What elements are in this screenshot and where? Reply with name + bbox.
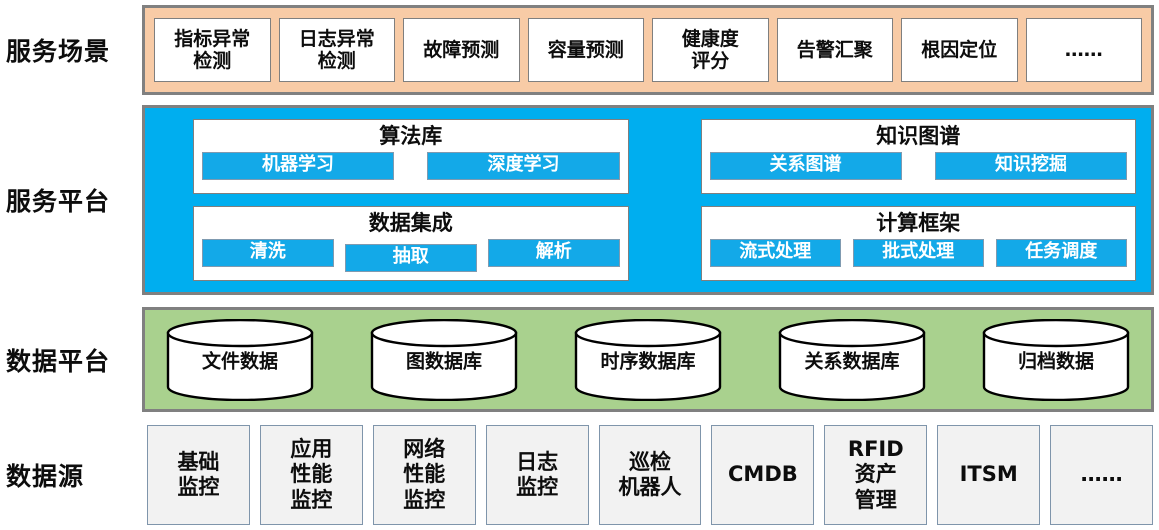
panel-computing-framework[interactable]: 计算框架 流式处理 批式处理 任务调度	[701, 206, 1137, 281]
chip-row-computing-framework: 流式处理 批式处理 任务调度	[702, 239, 1136, 267]
scene-box-fault-prediction[interactable]: 故障预测	[403, 18, 520, 82]
source-box-more[interactable]: ……	[1050, 425, 1153, 525]
chip-stream-processing[interactable]: 流式处理	[710, 239, 842, 267]
panel-data-integration[interactable]: 数据集成 清洗 抽取 解析	[193, 206, 629, 281]
band-data-platform: 文件数据 图数据库 时序数据库	[142, 307, 1154, 412]
data-source-list: 基础 监控 应用 性能 监控 网络 性能 监控 日志 监控 巡检 机器人 CMD…	[147, 425, 1153, 525]
panel-title-computing-framework: 计算框架	[876, 212, 960, 235]
service-platform-panel-grid: 算法库 机器学习 深度学习 知识图谱 关系图谱 知识挖掘 数据集成 清洗	[193, 119, 1136, 281]
cylinder-icon	[981, 319, 1131, 401]
cylinder-icon	[165, 319, 315, 401]
data-store-timeseries-database[interactable]: 时序数据库	[573, 319, 723, 401]
scene-box-more[interactable]: ……	[1026, 18, 1143, 82]
data-store-list: 文件数据 图数据库 时序数据库	[165, 318, 1131, 401]
data-store-graph-database[interactable]: 图数据库	[369, 319, 519, 401]
chip-extraction[interactable]: 抽取	[345, 244, 477, 272]
architecture-diagram: 服务场景 指标异常 检测 日志异常 检测 故障预测 容量预测 健康度 评分 告警…	[0, 0, 1159, 530]
chip-deep-learning[interactable]: 深度学习	[427, 152, 619, 180]
row-label-service-platform: 服务平台	[0, 105, 140, 295]
data-store-relational-database[interactable]: 关系数据库	[777, 319, 927, 401]
scene-box-log-anomaly[interactable]: 日志异常 检测	[279, 18, 396, 82]
chip-relation-graph[interactable]: 关系图谱	[710, 152, 902, 180]
band-service-scene: 指标异常 检测 日志异常 检测 故障预测 容量预测 健康度 评分 告警汇聚 根因…	[142, 5, 1154, 95]
row-label-data-source: 数据源	[0, 425, 140, 525]
source-box-inspection-robot[interactable]: 巡检 机器人	[599, 425, 702, 525]
data-store-file-data[interactable]: 文件数据	[165, 319, 315, 401]
scene-box-health-score[interactable]: 健康度 评分	[652, 18, 769, 82]
scene-box-metric-anomaly[interactable]: 指标异常 检测	[154, 18, 271, 82]
scene-box-capacity-prediction[interactable]: 容量预测	[528, 18, 645, 82]
row-label-data-platform: 数据平台	[0, 307, 140, 412]
source-box-network-performance-monitoring[interactable]: 网络 性能 监控	[373, 425, 476, 525]
source-box-infrastructure-monitoring[interactable]: 基础 监控	[147, 425, 250, 525]
chip-machine-learning[interactable]: 机器学习	[202, 152, 394, 180]
panel-title-data-integration: 数据集成	[369, 212, 453, 235]
chip-cleaning[interactable]: 清洗	[202, 239, 334, 267]
band-service-platform: 算法库 机器学习 深度学习 知识图谱 关系图谱 知识挖掘 数据集成 清洗	[142, 105, 1154, 295]
chip-batch-processing[interactable]: 批式处理	[853, 239, 985, 267]
chip-row-algorithm-library: 机器学习 深度学习	[194, 152, 628, 180]
panel-algorithm-library[interactable]: 算法库 机器学习 深度学习	[193, 119, 629, 194]
panel-knowledge-graph[interactable]: 知识图谱 关系图谱 知识挖掘	[701, 119, 1137, 194]
source-box-rfid-asset-management[interactable]: RFID 资产 管理	[824, 425, 927, 525]
source-box-application-performance-monitoring[interactable]: 应用 性能 监控	[260, 425, 363, 525]
chip-knowledge-mining[interactable]: 知识挖掘	[935, 152, 1127, 180]
chip-row-knowledge-graph: 关系图谱 知识挖掘	[702, 152, 1136, 180]
panel-title-knowledge-graph: 知识图谱	[876, 125, 960, 148]
cylinder-icon	[573, 319, 723, 401]
service-scene-box-list: 指标异常 检测 日志异常 检测 故障预测 容量预测 健康度 评分 告警汇聚 根因…	[154, 18, 1142, 82]
scene-box-root-cause[interactable]: 根因定位	[901, 18, 1018, 82]
chip-row-data-integration: 清洗 抽取 解析	[194, 239, 628, 267]
panel-title-algorithm-library: 算法库	[379, 125, 442, 148]
source-box-cmdb[interactable]: CMDB	[711, 425, 814, 525]
row-label-service-scene: 服务场景	[0, 5, 140, 95]
source-box-log-monitoring[interactable]: 日志 监控	[486, 425, 589, 525]
source-box-itsm[interactable]: ITSM	[937, 425, 1040, 525]
chip-task-scheduling[interactable]: 任务调度	[996, 239, 1128, 267]
data-store-archive-data[interactable]: 归档数据	[981, 319, 1131, 401]
cylinder-icon	[369, 319, 519, 401]
chip-parsing[interactable]: 解析	[488, 239, 620, 267]
scene-box-alert-aggregation[interactable]: 告警汇聚	[777, 18, 894, 82]
cylinder-icon	[777, 319, 927, 401]
